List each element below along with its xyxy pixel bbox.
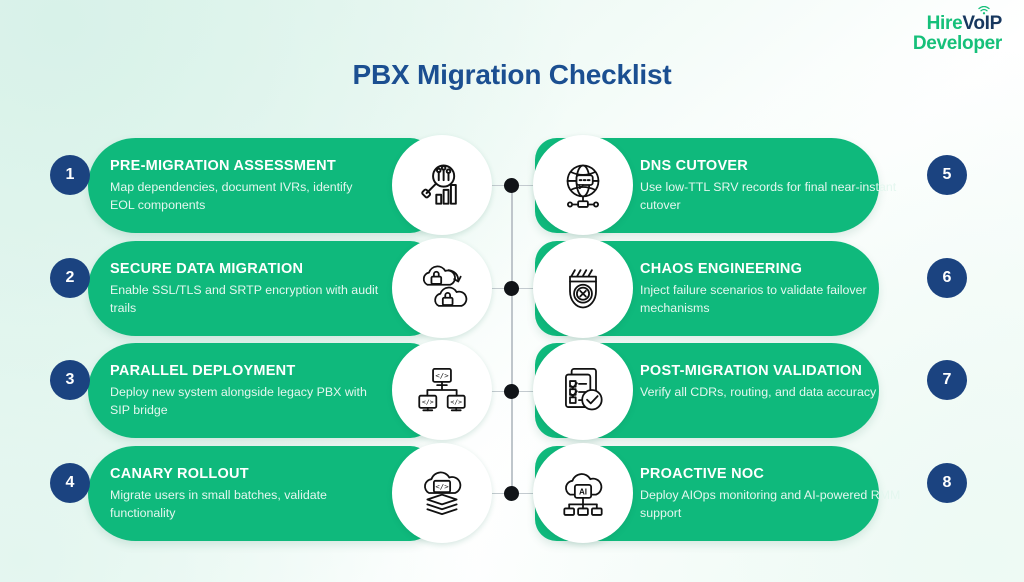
step-row-2: 2 SECURE DATA MIGRATION Enable SSL/TLS a… xyxy=(0,241,1024,336)
step-row-4: 4 </> CANARY ROLLOUT Migrate users in sm… xyxy=(0,446,1024,541)
step-badge-5: 5 xyxy=(927,155,967,195)
brand-logo-hire: Hire xyxy=(927,13,963,34)
step-text-3: PARALLEL DEPLOYMENT Deploy new system al… xyxy=(110,363,380,420)
step-desc-5: Use low-TTL SRV records for final near-i… xyxy=(640,179,910,214)
step-text-8: PROACTIVE NOC Deploy AIOps monitoring an… xyxy=(640,466,910,523)
step-badge-3: 3 xyxy=(50,360,90,400)
step-title-5: DNS CUTOVER xyxy=(640,158,910,175)
brand-logo-voip: VoIP xyxy=(962,13,1002,34)
step-text-6: CHAOS ENGINEERING Inject failure scenari… xyxy=(640,261,910,318)
brand-logo-developer: Developer xyxy=(913,34,1002,54)
magnifier-bar-chart-icon xyxy=(392,135,492,235)
step-badge-8: 8 xyxy=(927,463,967,503)
shield-x-chaos-icon xyxy=(533,238,633,338)
step-desc-6: Inject failure scenarios to validate fai… xyxy=(640,282,910,317)
step-title-6: CHAOS ENGINEERING xyxy=(640,261,910,278)
step-desc-2: Enable SSL/TLS and SRTP encryption with … xyxy=(110,282,380,317)
step-title-4: CANARY ROLLOUT xyxy=(110,466,380,483)
step-title-3: PARALLEL DEPLOYMENT xyxy=(110,363,380,380)
brand-logo-line1: HireVoIP xyxy=(927,13,1002,34)
checklist-verified-icon xyxy=(533,340,633,440)
step-desc-7: Verify all CDRs, routing, and data accur… xyxy=(640,384,910,402)
step-row-3: 3 </> </> </> PARALLEL DEPLOYMENT Deploy… xyxy=(0,343,1024,438)
step-badge-6: 6 xyxy=(927,258,967,298)
ai-cloud-monitor-icon: AI xyxy=(533,443,633,543)
step-text-1: PRE-MIGRATION ASSESSMENT Map dependencie… xyxy=(110,158,380,215)
cloud-code-layers-icon: </> xyxy=(392,443,492,543)
step-badge-7: 7 xyxy=(927,360,967,400)
brand-logo: HireVoIP Developer xyxy=(913,14,1002,54)
svg-text:</>: </> xyxy=(422,398,434,406)
globe-dns-network-icon xyxy=(533,135,633,235)
step-row-1: 1 PRE-MIGRATION ASSESSMENT Map dependenc… xyxy=(0,138,1024,233)
svg-text:AI: AI xyxy=(579,488,587,497)
step-desc-3: Deploy new system alongside legacy PBX w… xyxy=(110,384,380,419)
step-text-5: DNS CUTOVER Use low-TTL SRV records for … xyxy=(640,158,910,215)
step-badge-1: 1 xyxy=(50,155,90,195)
step-desc-1: Map dependencies, document IVRs, identif… xyxy=(110,179,380,214)
step-text-4: CANARY ROLLOUT Migrate users in small ba… xyxy=(110,466,380,523)
svg-text:</>: </> xyxy=(435,371,449,380)
step-text-7: POST-MIGRATION VALIDATION Verify all CDR… xyxy=(640,363,910,402)
code-monitors-network-icon: </> </> </> xyxy=(392,340,492,440)
brand-logo-voip-text: VoIP xyxy=(962,13,1002,34)
step-desc-4: Migrate users in small batches, validate… xyxy=(110,487,380,522)
svg-text:</>: </> xyxy=(450,398,462,406)
step-desc-8: Deploy AIOps monitoring and AI-powered R… xyxy=(640,487,910,522)
wifi-signal-icon xyxy=(978,6,990,15)
cloud-lock-transfer-icon xyxy=(392,238,492,338)
step-badge-2: 2 xyxy=(50,258,90,298)
step-title-8: PROACTIVE NOC xyxy=(640,466,910,483)
step-title-1: PRE-MIGRATION ASSESSMENT xyxy=(110,158,380,175)
page-title: PBX Migration Checklist xyxy=(0,59,1024,91)
step-title-2: SECURE DATA MIGRATION xyxy=(110,261,380,278)
svg-text:</>: </> xyxy=(435,482,449,491)
step-badge-4: 4 xyxy=(50,463,90,503)
step-text-2: SECURE DATA MIGRATION Enable SSL/TLS and… xyxy=(110,261,380,318)
infographic-canvas: HireVoIP Developer PBX Migration Checkli… xyxy=(0,0,1024,582)
step-title-7: POST-MIGRATION VALIDATION xyxy=(640,363,910,380)
